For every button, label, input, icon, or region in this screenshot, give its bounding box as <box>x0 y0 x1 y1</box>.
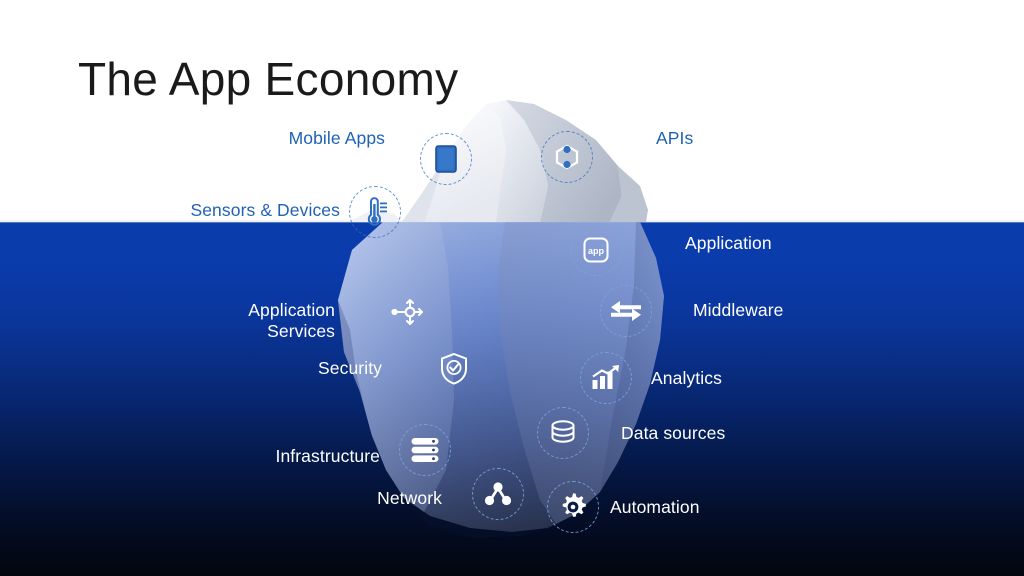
shield-check-glyph <box>438 351 470 387</box>
label-middleware: Middleware <box>693 300 923 321</box>
database-icon <box>537 407 589 459</box>
label-network: Network <box>290 488 442 509</box>
gear-icon <box>547 481 599 533</box>
slide-canvas: The App Economy Mobile Apps APIs Sensors… <box>0 0 1024 576</box>
node-arrows-icon <box>382 286 434 338</box>
bar-chart-up-glyph <box>589 363 623 393</box>
network-nodes-glyph <box>482 479 514 509</box>
water-background <box>0 222 1024 576</box>
shield-check-icon <box>428 343 480 395</box>
gear-glyph <box>556 490 590 524</box>
server-stack-glyph <box>409 435 441 465</box>
bidirectional-arrows-icon <box>600 285 652 337</box>
thermometer-glyph <box>360 196 390 228</box>
svg-text:app: app <box>588 246 605 256</box>
database-glyph <box>547 417 579 449</box>
network-nodes-icon <box>472 468 524 520</box>
api-hexagon-node-icon <box>541 131 593 183</box>
label-sensors-devices: Sensors & Devices <box>105 200 340 221</box>
label-data-sources: Data sources <box>621 423 851 444</box>
node-arrows-glyph <box>390 296 426 328</box>
app-square-icon: app <box>570 224 622 276</box>
bidirectional-arrows-glyph <box>607 298 645 324</box>
label-automation: Automation <box>610 497 840 518</box>
label-application: Application <box>685 233 915 254</box>
thermometer-sensor-icon <box>349 186 401 238</box>
label-mobile-apps: Mobile Apps <box>200 128 385 149</box>
bar-chart-up-icon <box>580 352 632 404</box>
server-stack-icon <box>399 424 451 476</box>
label-apis: APIs <box>656 128 836 149</box>
label-infrastructure: Infrastructure <box>185 446 380 467</box>
mobile-device-glyph <box>433 144 459 174</box>
mobile-device-icon <box>420 133 472 185</box>
label-application-services: Application Services <box>160 300 335 341</box>
page-title: The App Economy <box>78 56 458 102</box>
label-security: Security <box>250 358 382 379</box>
api-hexagon-glyph <box>550 140 584 174</box>
label-analytics: Analytics <box>651 368 881 389</box>
app-square-glyph: app <box>581 235 611 265</box>
